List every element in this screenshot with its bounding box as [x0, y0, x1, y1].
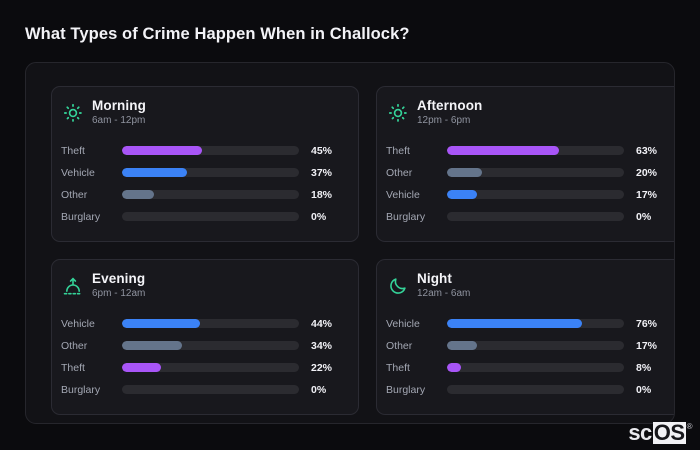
- crime-type-label: Vehicle: [61, 318, 122, 330]
- crime-row: Other17%: [386, 339, 671, 353]
- bar-track: [122, 168, 299, 177]
- bar-track: [122, 341, 299, 350]
- registered-trademark-icon: ®: [687, 423, 692, 431]
- card-time-range: 12pm - 6pm: [417, 116, 482, 127]
- crime-row: Theft8%: [386, 361, 671, 375]
- bar-track: [122, 363, 299, 372]
- crime-row: Theft63%: [386, 144, 671, 158]
- sun-icon: [62, 102, 83, 123]
- bar-fill: [122, 319, 200, 328]
- time-of-day-card-morning: Morning6am - 12pmTheft45%Vehicle37%Other…: [51, 86, 359, 242]
- card-header: Afternoon12pm - 6pm: [386, 99, 671, 127]
- card-title: Evening: [92, 272, 145, 286]
- card-header: Night12am - 6am: [386, 272, 671, 300]
- crime-row: Vehicle76%: [386, 317, 671, 331]
- bar-track: [447, 146, 624, 155]
- crime-row: Vehicle17%: [386, 188, 671, 202]
- card-title: Afternoon: [417, 99, 482, 113]
- bar-track: [122, 319, 299, 328]
- bar-fill: [447, 168, 482, 177]
- card-header: Morning6am - 12pm: [61, 99, 346, 127]
- watermark-text-os: OS: [653, 422, 686, 444]
- bar-track: [447, 190, 624, 199]
- crime-type-label: Theft: [61, 362, 122, 374]
- crime-row: Burglary0%: [386, 383, 671, 397]
- card-heading-group: Night12am - 6am: [417, 272, 470, 300]
- card-title: Night: [417, 272, 470, 286]
- time-of-day-panel: Morning6am - 12pmTheft45%Vehicle37%Other…: [25, 62, 675, 424]
- bar-fill: [122, 341, 182, 350]
- crime-row: Other34%: [61, 339, 346, 353]
- crime-percent-value: 17%: [624, 189, 671, 201]
- bar-fill: [447, 190, 477, 199]
- crime-row: Burglary0%: [61, 210, 346, 224]
- card-heading-group: Morning6am - 12pm: [92, 99, 146, 127]
- sun-icon: [387, 102, 408, 123]
- crime-rows: Theft45%Vehicle37%Other18%Burglary0%: [61, 144, 346, 224]
- crime-type-label: Burglary: [61, 211, 122, 223]
- crime-percent-value: 44%: [299, 318, 346, 330]
- crime-row: Other18%: [61, 188, 346, 202]
- crime-row: Theft22%: [61, 361, 346, 375]
- crime-percent-value: 20%: [624, 167, 671, 179]
- bar-track: [447, 212, 624, 221]
- bar-fill: [122, 146, 202, 155]
- card-title: Morning: [92, 99, 146, 113]
- crime-row: Vehicle44%: [61, 317, 346, 331]
- moon-icon: [387, 275, 408, 296]
- crime-type-label: Vehicle: [386, 318, 447, 330]
- crime-by-time-of-day-view: What Types of Crime Happen When in Chall…: [0, 0, 700, 450]
- crime-rows: Vehicle76%Other17%Theft8%Burglary0%: [386, 317, 671, 397]
- crime-percent-value: 0%: [624, 211, 671, 223]
- crime-type-label: Burglary: [61, 384, 122, 396]
- time-of-day-card-afternoon: Afternoon12pm - 6pmTheft63%Other20%Vehic…: [376, 86, 675, 242]
- card-time-range: 6am - 12pm: [92, 116, 146, 127]
- crime-type-label: Other: [386, 340, 447, 352]
- bar-track: [447, 363, 624, 372]
- crime-percent-value: 45%: [299, 145, 346, 157]
- card-grid: Morning6am - 12pmTheft45%Vehicle37%Other…: [51, 86, 675, 415]
- crime-percent-value: 76%: [624, 318, 671, 330]
- bar-track: [447, 341, 624, 350]
- card-time-range: 12am - 6am: [417, 289, 470, 300]
- crime-percent-value: 0%: [299, 211, 346, 223]
- crime-type-label: Theft: [386, 362, 447, 374]
- bar-fill: [447, 146, 559, 155]
- crime-row: Theft45%: [61, 144, 346, 158]
- bar-fill: [447, 319, 582, 328]
- crime-rows: Theft63%Other20%Vehicle17%Burglary0%: [386, 144, 671, 224]
- time-of-day-card-evening: Evening6pm - 12amVehicle44%Other34%Theft…: [51, 259, 359, 415]
- crime-percent-value: 22%: [299, 362, 346, 374]
- crime-type-label: Other: [61, 340, 122, 352]
- bar-fill: [447, 363, 461, 372]
- crime-rows: Vehicle44%Other34%Theft22%Burglary0%: [61, 317, 346, 397]
- page-title: What Types of Crime Happen When in Chall…: [25, 25, 410, 44]
- bar-track: [122, 190, 299, 199]
- crime-row: Other20%: [386, 166, 671, 180]
- watermark-text-sc: sc: [628, 422, 652, 444]
- crime-percent-value: 8%: [624, 362, 671, 374]
- crime-type-label: Burglary: [386, 384, 447, 396]
- crime-row: Vehicle37%: [61, 166, 346, 180]
- crime-row: Burglary0%: [61, 383, 346, 397]
- time-of-day-card-night: Night12am - 6amVehicle76%Other17%Theft8%…: [376, 259, 675, 415]
- bar-track: [447, 168, 624, 177]
- scos-watermark: sc OS ®: [628, 422, 692, 444]
- bar-track: [447, 319, 624, 328]
- bar-track: [122, 146, 299, 155]
- bar-fill: [122, 190, 154, 199]
- crime-percent-value: 34%: [299, 340, 346, 352]
- crime-type-label: Other: [386, 167, 447, 179]
- bar-fill: [122, 168, 187, 177]
- sunset-icon: [62, 275, 83, 296]
- crime-type-label: Theft: [386, 145, 447, 157]
- card-header: Evening6pm - 12am: [61, 272, 346, 300]
- crime-percent-value: 37%: [299, 167, 346, 179]
- card-heading-group: Afternoon12pm - 6pm: [417, 99, 482, 127]
- crime-percent-value: 63%: [624, 145, 671, 157]
- crime-row: Burglary0%: [386, 210, 671, 224]
- crime-type-label: Burglary: [386, 211, 447, 223]
- card-time-range: 6pm - 12am: [92, 289, 145, 300]
- crime-percent-value: 17%: [624, 340, 671, 352]
- crime-percent-value: 18%: [299, 189, 346, 201]
- crime-percent-value: 0%: [624, 384, 671, 396]
- crime-type-label: Vehicle: [386, 189, 447, 201]
- bar-track: [122, 385, 299, 394]
- crime-type-label: Other: [61, 189, 122, 201]
- bar-fill: [122, 363, 161, 372]
- crime-percent-value: 0%: [299, 384, 346, 396]
- card-heading-group: Evening6pm - 12am: [92, 272, 145, 300]
- crime-type-label: Vehicle: [61, 167, 122, 179]
- bar-track: [122, 212, 299, 221]
- bar-track: [447, 385, 624, 394]
- bar-fill: [447, 341, 477, 350]
- crime-type-label: Theft: [61, 145, 122, 157]
